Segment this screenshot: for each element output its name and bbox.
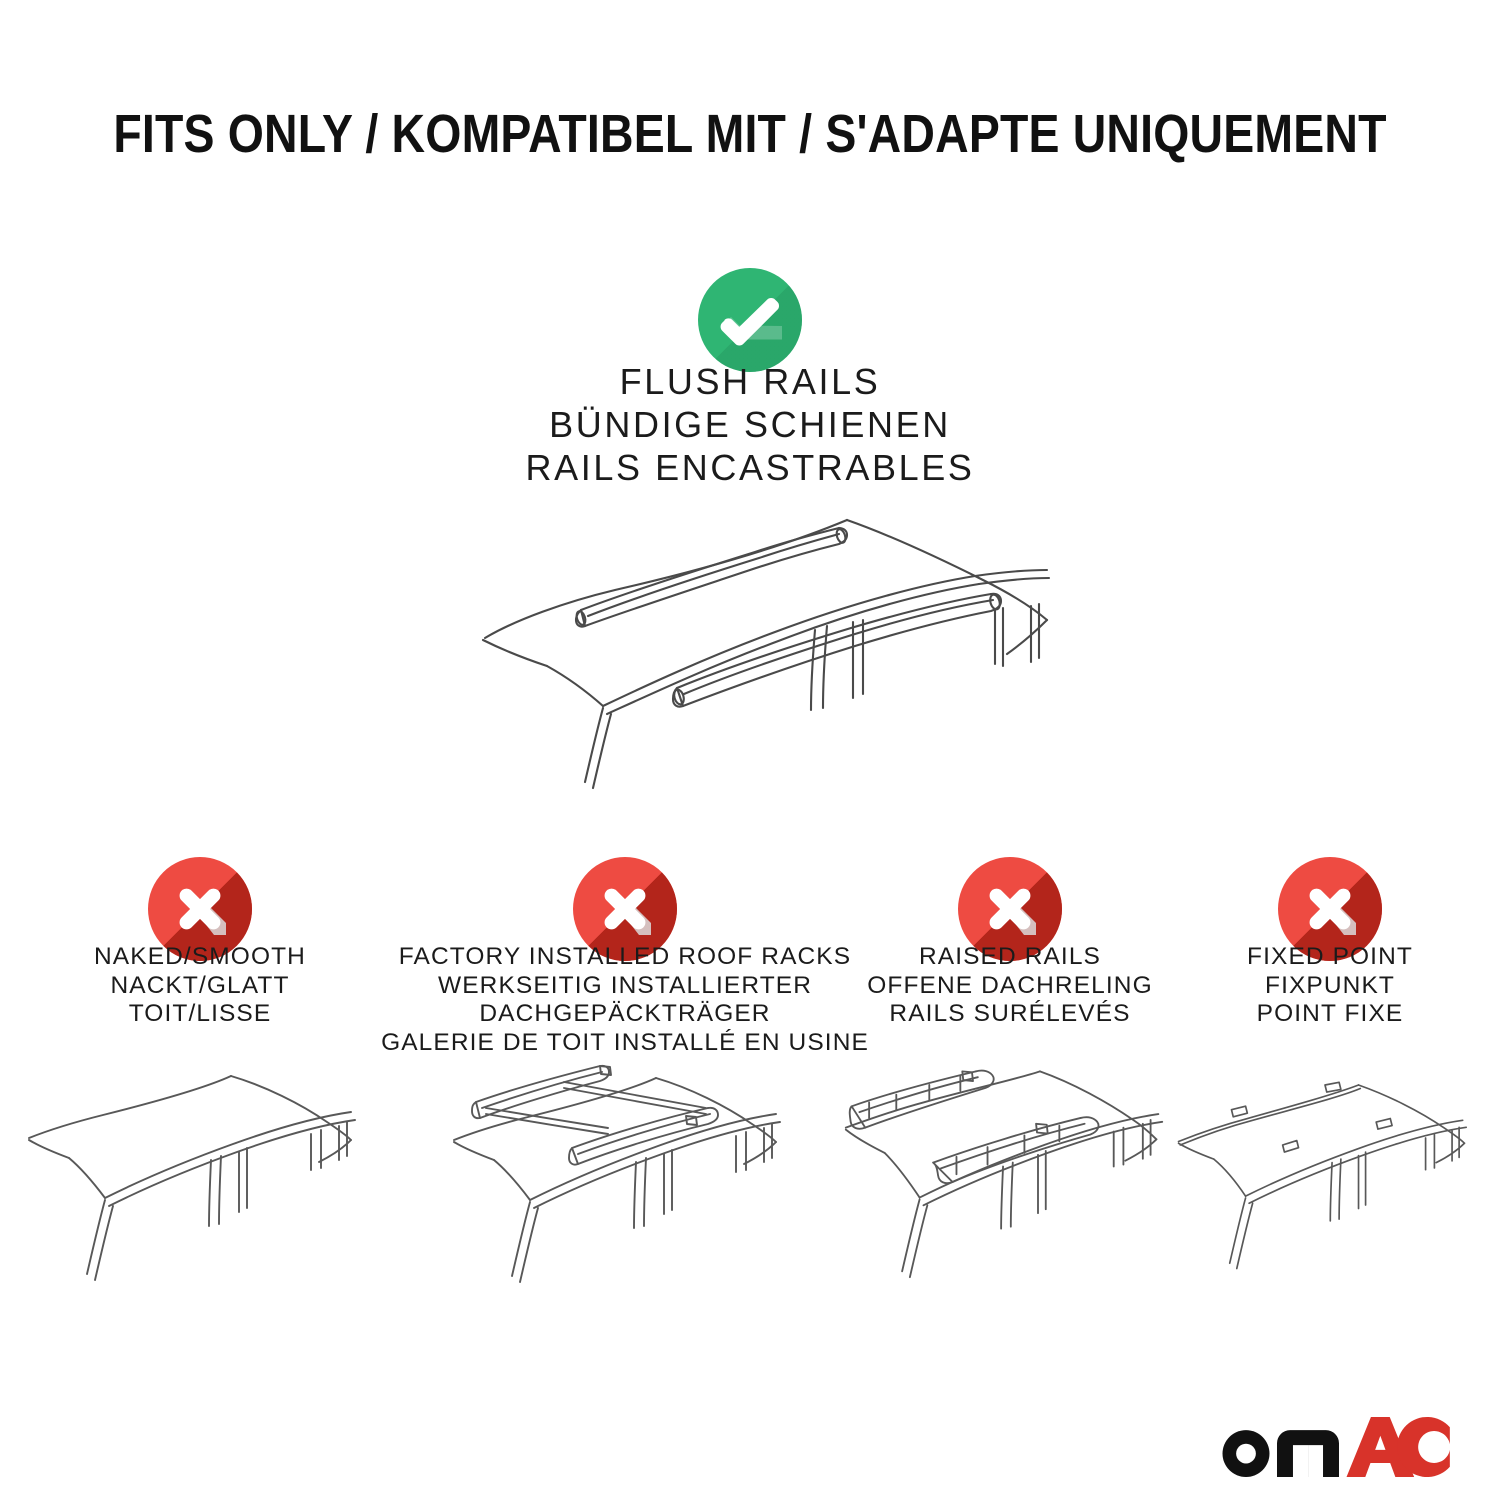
label-line-en: RAISED RAILS xyxy=(825,943,1195,972)
incompatible-section: NAKED/SMOOTH NACKT/GLATT TOIT/LISSE xyxy=(0,848,1500,1318)
label-line-fr: POINT FIXE xyxy=(1160,1000,1500,1029)
label-line-en: FACTORY INSTALLED ROOF RACKS xyxy=(355,943,895,972)
compatible-label-fr: RAILS ENCASTRABLES xyxy=(0,446,1500,489)
label-line-en: FIXED POINT xyxy=(1160,943,1500,972)
compatible-label-de: BÜNDIGE SCHIENEN xyxy=(0,403,1500,446)
label-line-de-1: WERKSEITIG INSTALLIERTER xyxy=(355,972,895,1001)
label-line-en: NAKED/SMOOTH xyxy=(10,943,390,972)
page-title: FITS ONLY / KOMPATIBEL MIT / S'ADAPTE UN… xyxy=(105,103,1395,165)
car-roof-raised-rails-illustration xyxy=(840,1060,1170,1305)
label-line-de: FIXPUNKT xyxy=(1160,972,1500,1001)
infographic-page: FITS ONLY / KOMPATIBEL MIT / S'ADAPTE UN… xyxy=(0,0,1500,1500)
label-line-de-2: DACHGEPÄCKTRÄGER xyxy=(355,1000,895,1029)
label-line-fr: GALERIE DE TOIT INSTALLÉ EN USINE xyxy=(355,1029,895,1058)
compatible-label-en: FLUSH RAILS xyxy=(0,360,1500,403)
label-line-de: OFFENE DACHRELING xyxy=(825,972,1195,1001)
compatible-labels: FLUSH RAILS BÜNDIGE SCHIENEN RAILS ENCAS… xyxy=(0,360,1500,489)
incompatible-labels: RAISED RAILS OFFENE DACHRELING RAILS SUR… xyxy=(825,943,1195,1029)
car-roof-factory-installed-roof-racks-illustration xyxy=(370,1060,870,1305)
car-roof-naked-smooth-illustration xyxy=(25,1060,365,1305)
car-roof-with-flush-rails-illustration xyxy=(455,498,1065,798)
label-line-de: NACKT/GLATT xyxy=(10,972,390,1001)
omac-logo: OMAC xyxy=(1215,1416,1452,1478)
incompatible-labels: FACTORY INSTALLED ROOF RACKS WERKSEITIG … xyxy=(355,943,895,1057)
incompatible-labels: FIXED POINT FIXPUNKT POINT FIXE xyxy=(1160,943,1500,1029)
logo-letter-o xyxy=(1223,1430,1270,1477)
check-circle-icon xyxy=(698,268,802,372)
label-line-fr: TOIT/LISSE xyxy=(10,1000,390,1029)
logo-letter-m xyxy=(1277,1430,1339,1477)
car-roof-fixed-point-illustration xyxy=(1175,1060,1475,1305)
label-line-fr: RAILS SURÉLEVÉS xyxy=(825,1000,1195,1029)
incompatible-labels: NAKED/SMOOTH NACKT/GLATT TOIT/LISSE xyxy=(10,943,390,1029)
